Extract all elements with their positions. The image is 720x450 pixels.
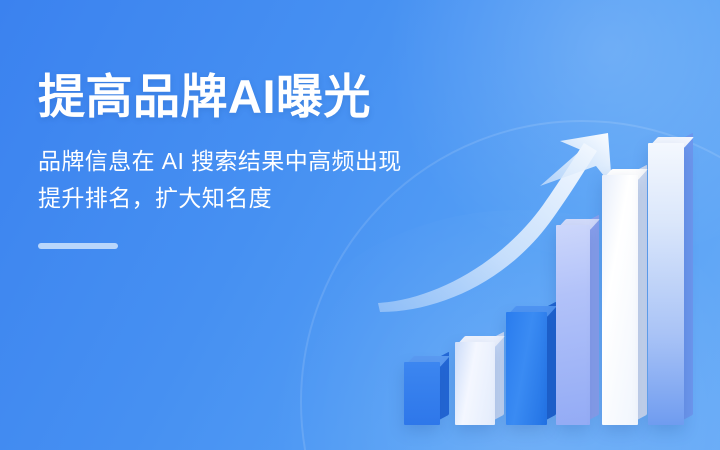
chart-bar-1-face <box>404 362 440 425</box>
banner-subtitle: 品牌信息在 AI 搜索结果中高频出现 提升排名，扩大知名度 <box>38 143 558 218</box>
page-title: 提高品牌AI曝光 <box>38 72 558 123</box>
chart-bar-6 <box>648 143 684 425</box>
banner-text-block: 提高品牌AI曝光 品牌信息在 AI 搜索结果中高频出现 提升排名，扩大知名度 <box>38 72 558 249</box>
chart-bar-2-face <box>455 342 495 425</box>
chart-bar-5 <box>602 175 638 425</box>
chart-bar-3-face <box>506 312 547 425</box>
chart-bar-4 <box>556 225 590 425</box>
chart-bar-1 <box>404 362 440 425</box>
chart-bar-5-side <box>637 165 647 420</box>
subtitle-line-2: 提升排名，扩大知名度 <box>38 180 558 217</box>
chart-bar-6-face <box>648 143 684 425</box>
accent-divider <box>38 243 118 249</box>
chart-bar-4-face <box>556 225 590 425</box>
chart-bar-6-side <box>683 133 693 420</box>
chart-bar-2 <box>455 342 495 425</box>
promo-banner: 提高品牌AI曝光 品牌信息在 AI 搜索结果中高频出现 提升排名，扩大知名度 <box>0 0 720 450</box>
chart-bar-4-side <box>589 215 599 420</box>
chart-bar-5-face <box>602 175 638 425</box>
chart-bar-3-side <box>546 302 556 420</box>
chart-bar-3 <box>506 312 547 425</box>
subtitle-line-1: 品牌信息在 AI 搜索结果中高频出现 <box>38 143 558 180</box>
